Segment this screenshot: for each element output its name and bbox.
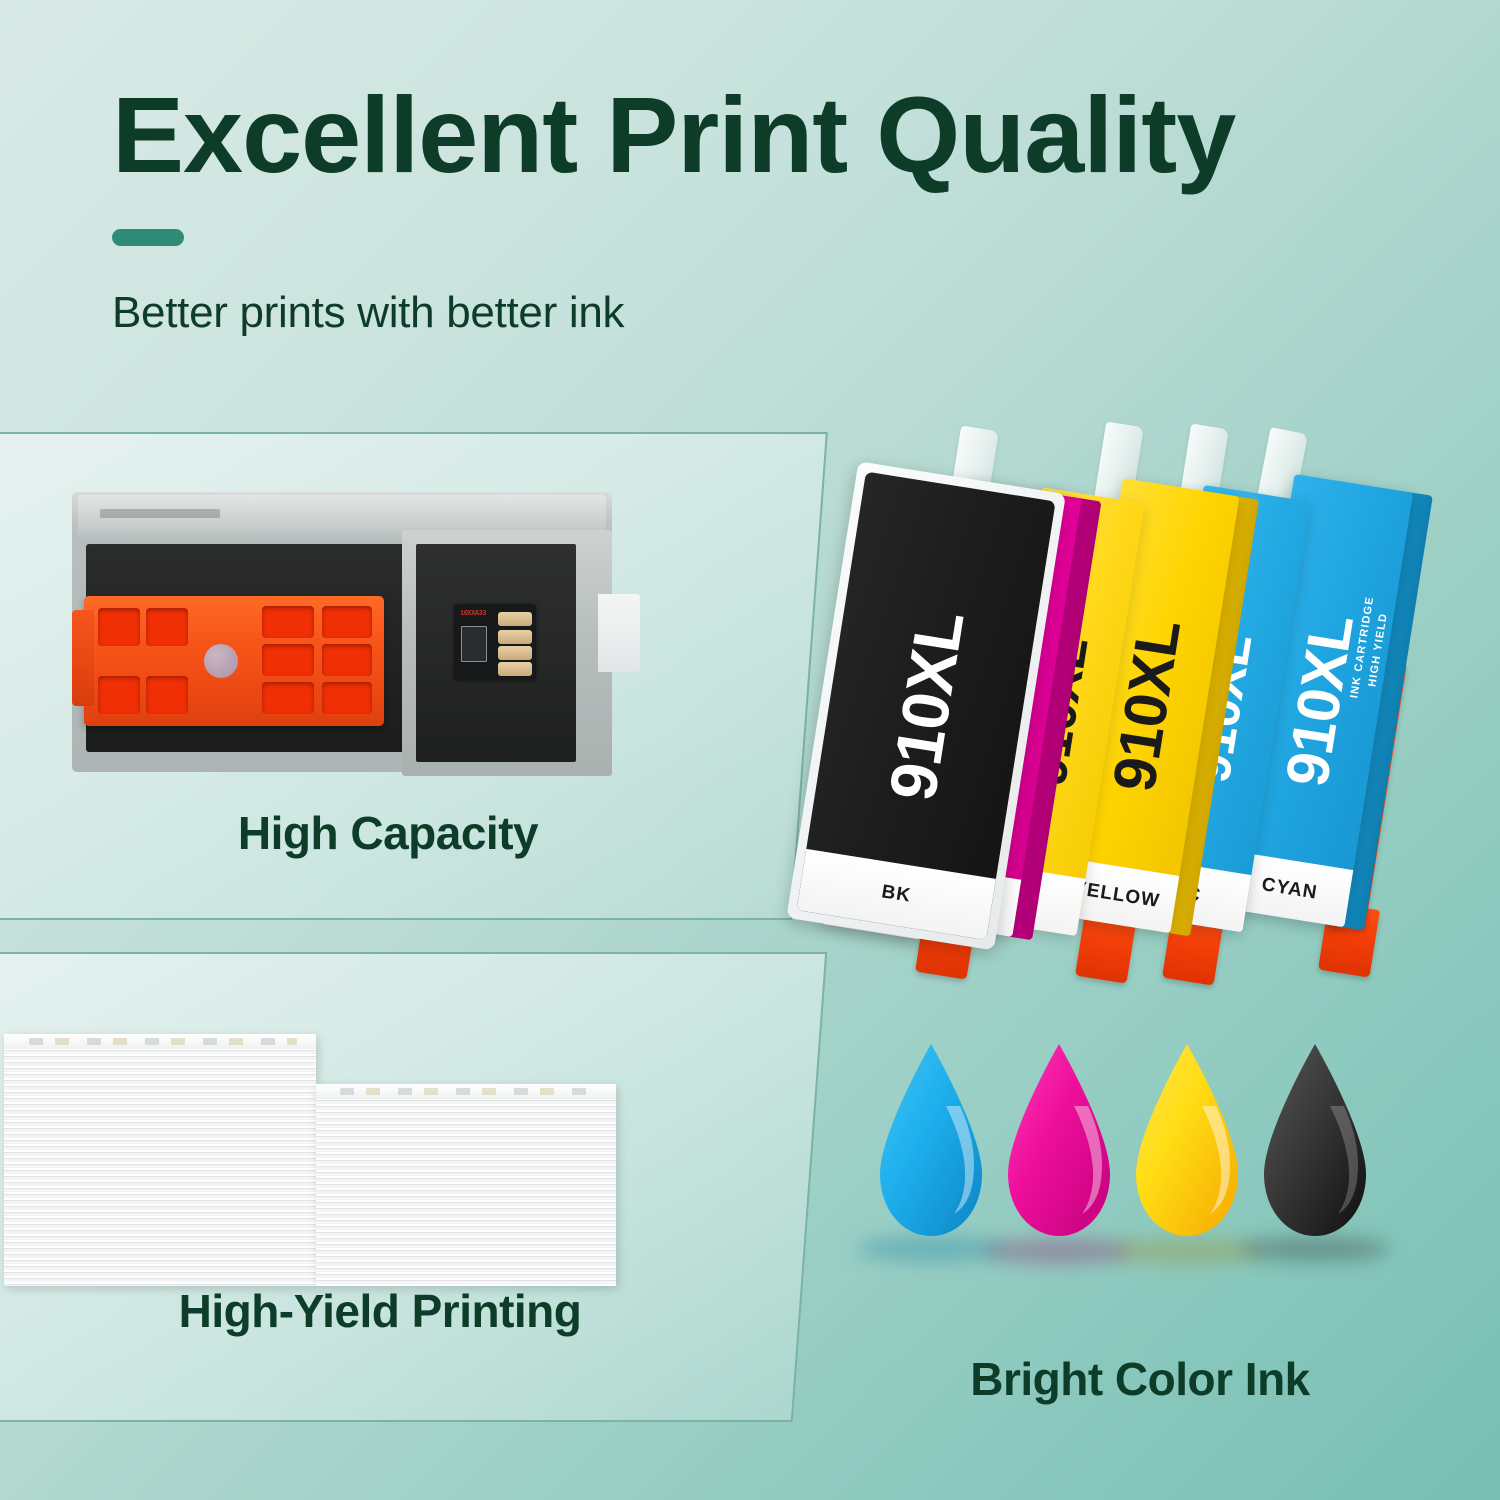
paper-sheet-lines	[4, 1048, 316, 1286]
clip-pivot-dot	[204, 644, 238, 678]
clip-slot	[146, 676, 188, 714]
cartridge-color-code: CYAN	[1260, 874, 1319, 905]
cartridge-white-tab	[598, 594, 640, 672]
panel-caption-high-capacity: High Capacity	[0, 806, 826, 860]
clip-slot	[262, 682, 314, 714]
clip-slot	[262, 606, 314, 638]
feature-panel-high-capacity: 10XXA33 High Ca	[0, 432, 828, 920]
ink-droplet-group	[860, 1040, 1400, 1270]
paper-sheet-lines	[316, 1098, 616, 1286]
droplet-shape-icon	[1256, 1040, 1374, 1240]
droplet-shape-icon	[1000, 1040, 1118, 1240]
page-title: Excellent Print Quality	[112, 78, 1412, 191]
accent-bar	[112, 229, 184, 246]
paper-stack-small	[316, 1084, 616, 1286]
paper-stack-large	[4, 1034, 316, 1286]
chip-pad	[498, 646, 532, 660]
page-subtitle: Better prints with better ink	[112, 288, 1412, 338]
chip-pad	[498, 612, 532, 626]
clip-slot	[98, 608, 140, 646]
cartridge-color-code: BK	[880, 881, 913, 907]
panel-caption-bright-color-ink: Bright Color Ink	[940, 1352, 1340, 1406]
droplet-shape-icon	[872, 1040, 990, 1240]
printhead-cartridge-image: 10XXA33	[72, 492, 632, 782]
droplet-black	[1256, 1040, 1374, 1240]
droplet-magenta	[1000, 1040, 1118, 1240]
cartridge-color-code: YELLOW	[1072, 878, 1162, 913]
paper-stack-top-face	[316, 1084, 616, 1099]
clip-slot	[322, 644, 372, 676]
header: Excellent Print Quality Better prints wi…	[112, 78, 1412, 338]
clip-slot	[322, 606, 372, 638]
orange-clip-ear	[72, 610, 94, 706]
chip-pad	[498, 630, 532, 644]
clip-slot	[146, 608, 188, 646]
feature-panel-high-yield: High-Yield Printing	[0, 952, 827, 1422]
paper-stack-top-face	[4, 1034, 316, 1049]
chip-pad	[498, 662, 532, 676]
droplet-shadow	[1112, 1238, 1262, 1264]
clip-slot	[322, 682, 372, 714]
cartridge-model-label: 910XL	[874, 606, 979, 805]
chip-ic	[461, 626, 487, 662]
clip-slot	[262, 644, 314, 676]
orange-clip	[84, 596, 384, 726]
contact-chip-icon: 10XXA33	[454, 604, 536, 680]
clip-slot	[98, 676, 140, 714]
droplet-shape-icon	[1128, 1040, 1246, 1240]
droplet-cyan	[872, 1040, 990, 1240]
chip-serial-text: 10XXA33	[460, 610, 486, 618]
panel-caption-high-yield: High-Yield Printing	[0, 1284, 818, 1338]
ink-cartridge-group: 910XL INK CARTRIDGE HIGH YIELD CYAN 910X…	[815, 420, 1455, 1000]
droplet-yellow	[1128, 1040, 1246, 1240]
